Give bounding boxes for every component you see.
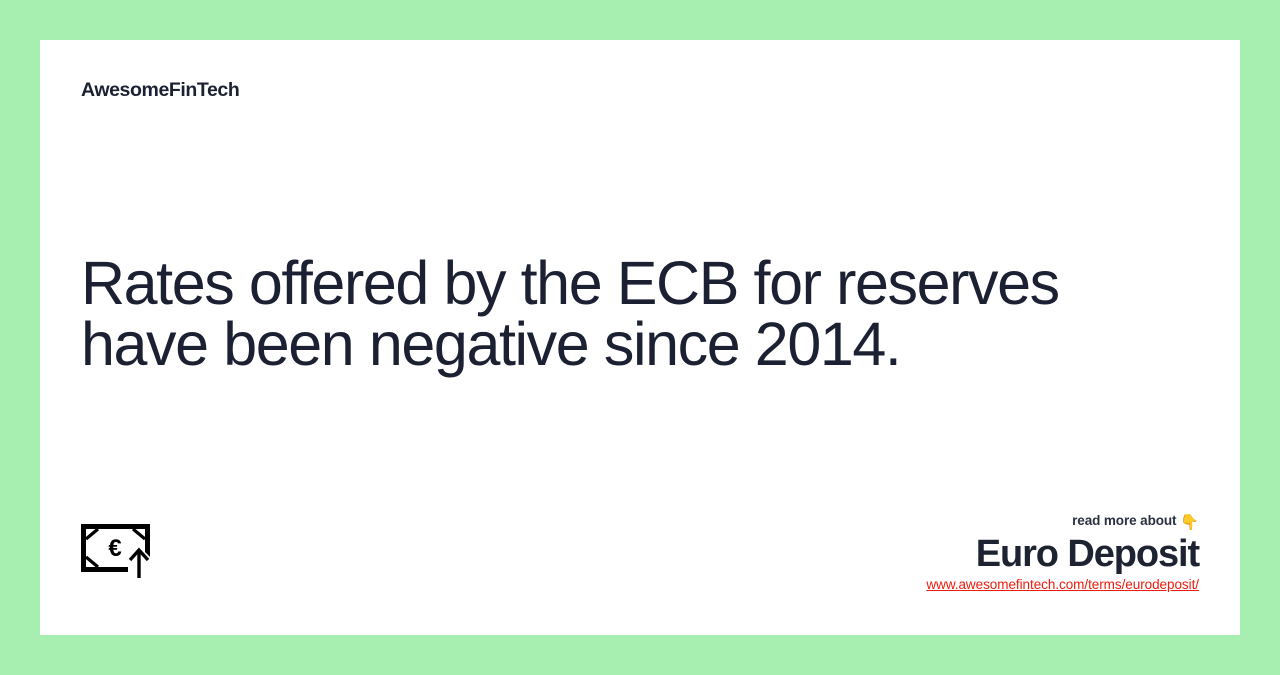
promo-block: read more about👇 Euro Deposit www.awesom… bbox=[926, 512, 1199, 594]
svg-text:€: € bbox=[108, 535, 121, 562]
content-card: AwesomeFinTech Rates offered by the ECB … bbox=[40, 40, 1240, 635]
promo-url-link[interactable]: www.awesomefintech.com/terms/eurodeposit… bbox=[926, 577, 1199, 593]
euro-banknote-up-arrow-icon: € bbox=[81, 524, 159, 580]
promo-kicker: read more about👇 bbox=[926, 512, 1199, 531]
card-footer: € read more about👇 Euro Deposit www.awes… bbox=[40, 495, 1240, 635]
pointing-down-hand-icon: 👇 bbox=[1180, 514, 1199, 531]
brand-logo: AwesomeFinTech bbox=[81, 81, 239, 101]
promo-kicker-label: read more about bbox=[1072, 513, 1176, 528]
page-title: Rates offered by the ECB for reserves ha… bbox=[81, 253, 1181, 375]
promo-title: Euro Deposit bbox=[926, 532, 1199, 576]
